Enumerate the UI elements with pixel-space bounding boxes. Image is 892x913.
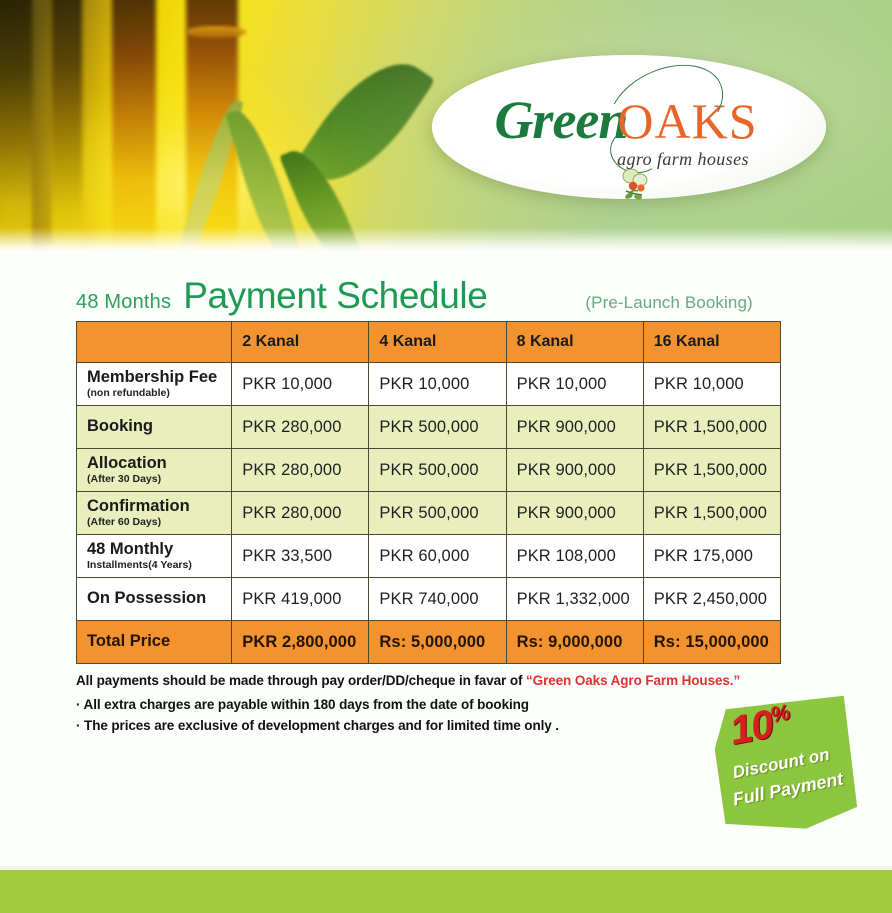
cell-value: PKR 280,000 [232, 406, 369, 449]
cell-value: PKR 500,000 [369, 492, 506, 535]
cell-value: Rs: 9,000,000 [506, 621, 643, 664]
cell-value: PKR 419,000 [232, 578, 369, 621]
fruit-leaf-icon [620, 167, 654, 201]
discount-badge: 10% Discount on Full Payment [716, 700, 854, 830]
table-row: Allocation (After 30 Days) PKR 280,000 P… [77, 449, 781, 492]
cell-value: PKR 2,450,000 [643, 578, 780, 621]
row-sublabel-text: (non refundable) [87, 388, 221, 399]
row-sublabel-text: (After 30 Days) [87, 474, 221, 485]
table-body: Membership Fee (non refundable) PKR 10,0… [77, 363, 781, 664]
cell-value: Rs: 5,000,000 [369, 621, 506, 664]
table-header: 2 Kanal 4 Kanal 8 Kanal 16 Kanal [77, 322, 781, 363]
row-label-text: Allocation [87, 454, 167, 472]
bamboo-node-icon [186, 26, 246, 38]
cell-value: PKR 280,000 [232, 492, 369, 535]
cell-value: PKR 2,800,000 [232, 621, 369, 664]
cell-value: PKR 1,332,000 [506, 578, 643, 621]
column-header-4-kanal: 4 Kanal [369, 322, 506, 363]
table-row: Membership Fee (non refundable) PKR 10,0… [77, 363, 781, 406]
cell-value: PKR 10,000 [232, 363, 369, 406]
table-row: Confirmation (After 60 Days) PKR 280,000… [77, 492, 781, 535]
cell-value: Rs: 15,000,000 [643, 621, 780, 664]
title-months: 48 Months [76, 291, 171, 314]
cell-value: PKR 900,000 [506, 449, 643, 492]
row-label-total-price: Total Price [77, 621, 232, 664]
payment-schedule-table: 2 Kanal 4 Kanal 8 Kanal 16 Kanal Members… [76, 321, 781, 664]
row-label-text: 48 Monthly [87, 540, 173, 558]
cell-value: PKR 1,500,000 [643, 492, 780, 535]
brand-logo: Green OAKS agro farm houses [432, 55, 826, 199]
cell-value: PKR 1,500,000 [643, 406, 780, 449]
logo-text-oaks: OAKS [617, 96, 757, 146]
cell-value: PKR 60,000 [369, 535, 506, 578]
title-main: Payment Schedule [183, 275, 487, 317]
bamboo-cane-icon [52, 0, 82, 253]
payee-name-highlight: “Green Oaks Agro Farm Houses.” [526, 673, 740, 688]
cell-value: PKR 10,000 [506, 363, 643, 406]
row-label-booking: Booking [77, 406, 232, 449]
cell-value: PKR 900,000 [506, 406, 643, 449]
cell-value: PKR 33,500 [232, 535, 369, 578]
payment-instruction-note: All payments should be made through pay … [76, 673, 796, 688]
row-label-text: Total Price [87, 632, 170, 650]
cell-value: PKR 500,000 [369, 406, 506, 449]
cell-value: PKR 500,000 [369, 449, 506, 492]
table-row: On Possession PKR 419,000 PKR 740,000 PK… [77, 578, 781, 621]
cell-value: PKR 10,000 [369, 363, 506, 406]
cell-value: PKR 1,500,000 [643, 449, 780, 492]
row-label-on-possession: On Possession [77, 578, 232, 621]
table-row-total: Total Price PKR 2,800,000 Rs: 5,000,000 … [77, 621, 781, 664]
logo-text-green: Green [494, 93, 627, 147]
cell-value: PKR 108,000 [506, 535, 643, 578]
cell-value: PKR 740,000 [369, 578, 506, 621]
table-corner-cell [77, 322, 232, 363]
row-sublabel-text: Installments(4 Years) [87, 560, 221, 571]
cell-value: PKR 900,000 [506, 492, 643, 535]
page-title: 48 Months Payment Schedule (Pre-Launch B… [0, 253, 892, 317]
row-label-allocation: Allocation (After 30 Days) [77, 449, 232, 492]
note-bullet-2: · The prices are exclusive of developmen… [76, 716, 796, 737]
footer-green-bar [0, 870, 892, 913]
payment-instruction-text: All payments should be made through pay … [76, 673, 526, 688]
row-label-text: Confirmation [87, 497, 190, 515]
bamboo-cane-icon [112, 0, 156, 253]
cell-value: PKR 175,000 [643, 535, 780, 578]
note-bullet-1: · All extra charges are payable within 1… [76, 695, 796, 716]
bamboo-cane-icon [0, 0, 32, 253]
column-header-2-kanal: 2 Kanal [232, 322, 369, 363]
table-row: 48 Monthly Installments(4 Years) PKR 33,… [77, 535, 781, 578]
header-banner: Green OAKS agro farm houses [0, 0, 892, 253]
row-label-48-monthly: 48 Monthly Installments(4 Years) [77, 535, 232, 578]
title-subtitle: (Pre-Launch Booking) [585, 293, 752, 313]
logo-wordmark: Green OAKS [494, 93, 757, 147]
cell-value: PKR 280,000 [232, 449, 369, 492]
table-header-row: 2 Kanal 4 Kanal 8 Kanal 16 Kanal [77, 322, 781, 363]
footer-notes: All payments should be made through pay … [76, 673, 796, 737]
cell-value: PKR 10,000 [643, 363, 780, 406]
row-label-text: Membership Fee [87, 368, 217, 386]
row-label-confirmation: Confirmation (After 60 Days) [77, 492, 232, 535]
column-header-16-kanal: 16 Kanal [643, 322, 780, 363]
column-header-8-kanal: 8 Kanal [506, 322, 643, 363]
row-label-text: Booking [87, 417, 153, 435]
row-sublabel-text: (After 60 Days) [87, 517, 221, 528]
banner-fade [0, 227, 892, 253]
row-label-membership-fee: Membership Fee (non refundable) [77, 363, 232, 406]
table-row: Booking PKR 280,000 PKR 500,000 PKR 900,… [77, 406, 781, 449]
row-label-text: On Possession [87, 589, 206, 607]
